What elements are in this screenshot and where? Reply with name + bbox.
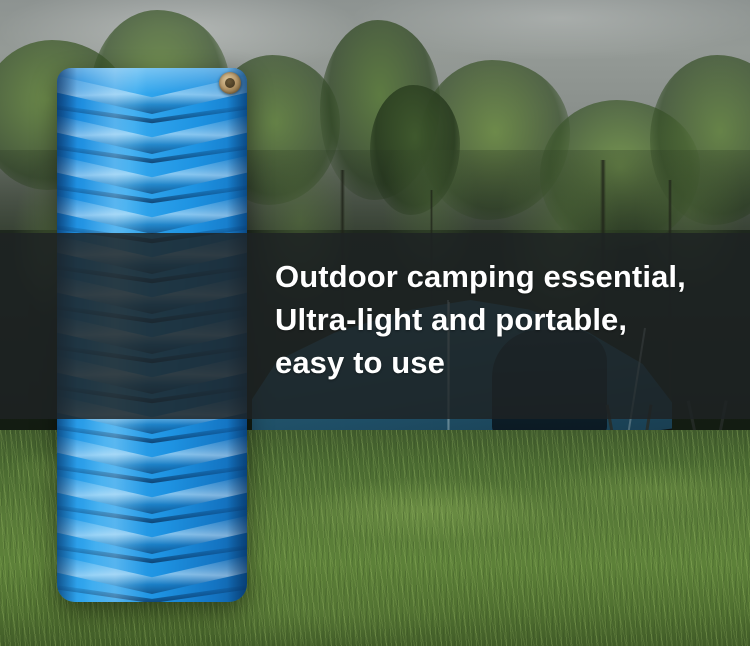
inflation-valve-icon <box>219 72 241 94</box>
headline-line-2: Ultra-light and portable, <box>275 298 745 341</box>
product-banner: Outdoor camping essential, Ultra-light a… <box>0 0 750 646</box>
headline-copy: Outdoor camping essential, Ultra-light a… <box>275 255 745 384</box>
headline-line-1: Outdoor camping essential, <box>275 255 745 298</box>
headline-line-3: easy to use <box>275 341 745 384</box>
